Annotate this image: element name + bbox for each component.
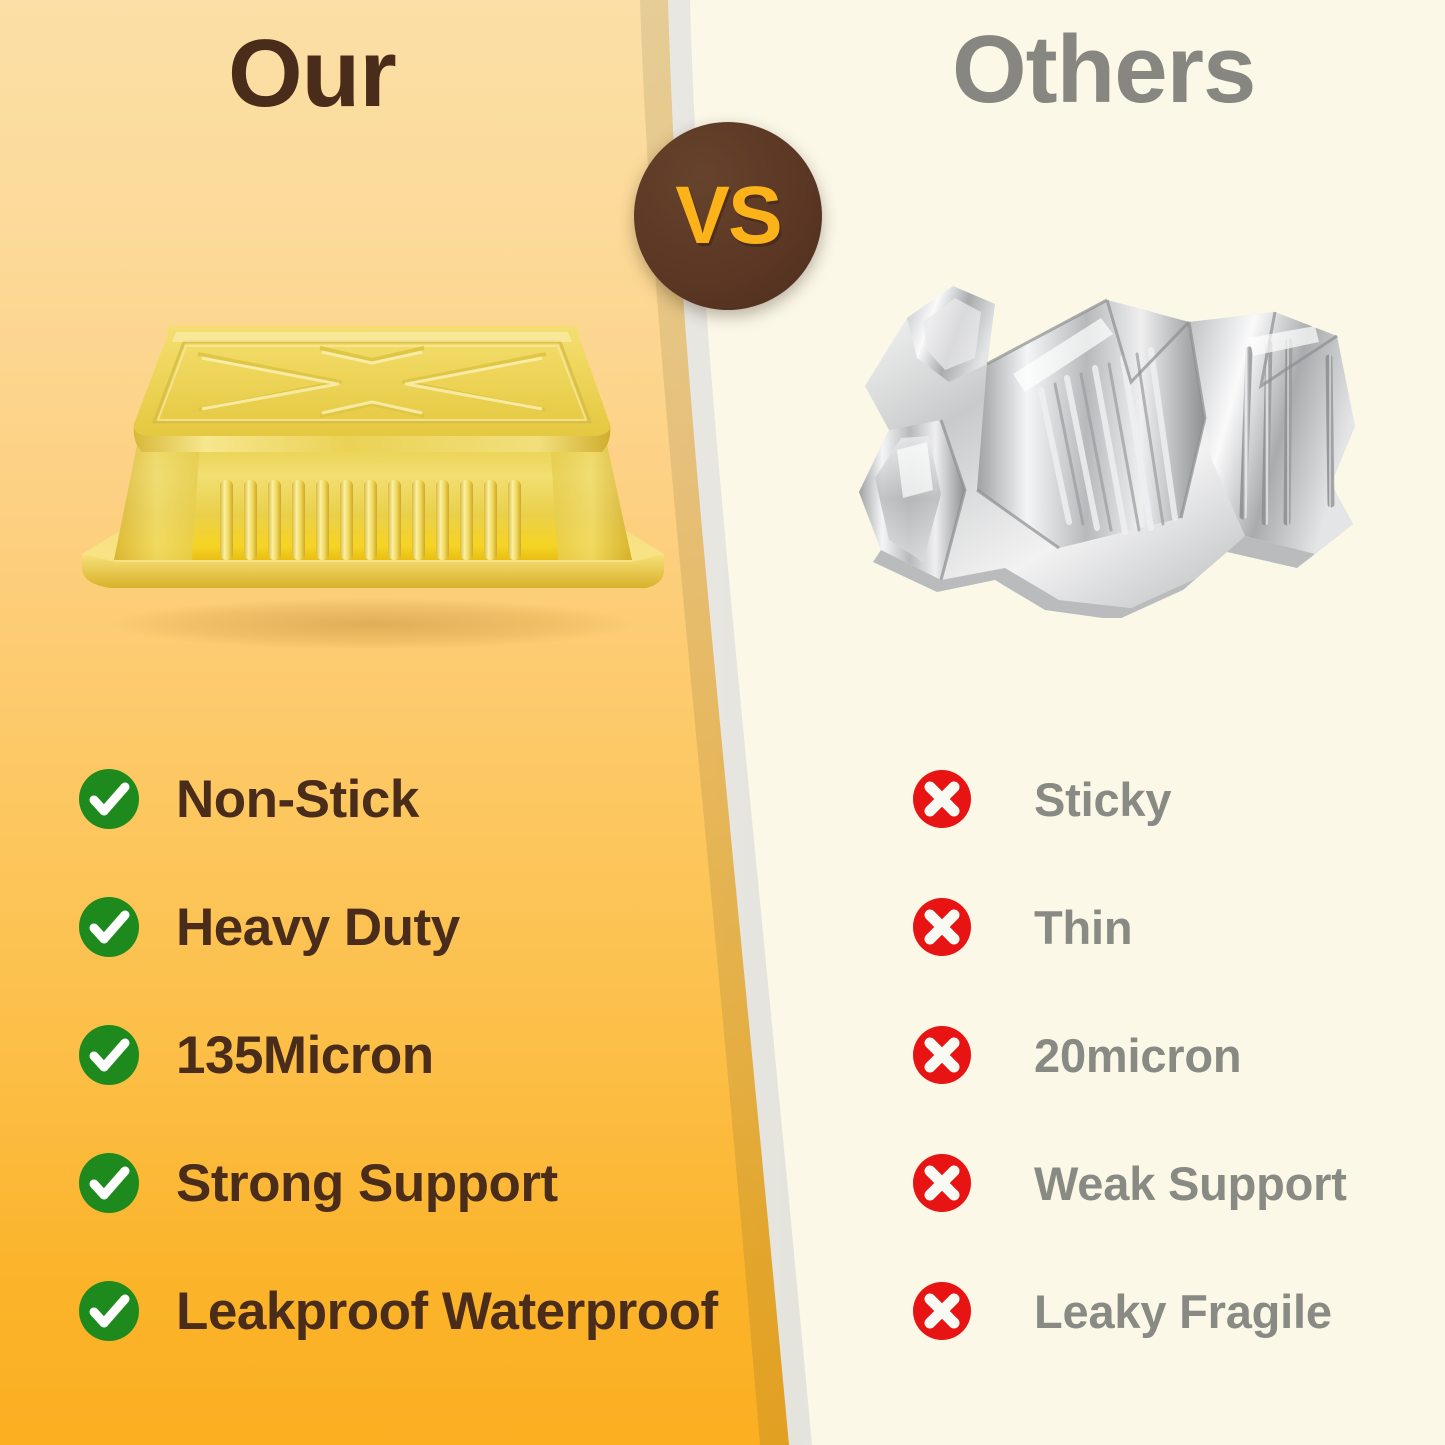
others-feature-list: Sticky Thin 20micron Weak Support — [912, 735, 1382, 1375]
feature-label: 20micron — [1034, 1032, 1241, 1079]
feature-row: Thin — [912, 863, 1382, 991]
feature-row: Strong Support — [78, 1119, 738, 1247]
feature-label: Leakproof Waterproof — [176, 1285, 718, 1338]
feature-label: Leaky Fragile — [1034, 1288, 1332, 1335]
feature-row: Non-Stick — [78, 735, 738, 863]
feature-row: Leakproof Waterproof — [78, 1247, 738, 1375]
vs-badge-label: VS — [675, 175, 780, 257]
x-circle-icon — [912, 769, 972, 829]
gold-foil-container-image — [72, 312, 672, 648]
our-column-title: Our — [228, 26, 396, 122]
x-circle-icon — [912, 1281, 972, 1341]
x-circle-icon — [912, 1153, 972, 1213]
feature-row: Sticky — [912, 735, 1382, 863]
x-circle-icon — [912, 897, 972, 957]
our-feature-list: Non-Stick Heavy Duty 135Micron Strong Su… — [78, 735, 738, 1375]
comparison-infographic: Our Others VS — [0, 0, 1445, 1445]
feature-label: Sticky — [1034, 776, 1171, 823]
check-circle-icon — [78, 1280, 140, 1342]
crumpled-silver-foil-image — [845, 278, 1365, 618]
check-circle-icon — [78, 768, 140, 830]
feature-label: Thin — [1034, 904, 1132, 951]
x-circle-icon — [912, 1025, 972, 1085]
feature-label: Non-Stick — [176, 773, 419, 826]
vs-badge: VS — [634, 122, 822, 310]
feature-row: Weak Support — [912, 1119, 1382, 1247]
check-circle-icon — [78, 1024, 140, 1086]
feature-label: Weak Support — [1034, 1160, 1347, 1207]
feature-row: 20micron — [912, 991, 1382, 1119]
feature-row: Leaky Fragile — [912, 1247, 1382, 1375]
feature-row: Heavy Duty — [78, 863, 738, 991]
feature-label: Heavy Duty — [176, 901, 460, 954]
check-circle-icon — [78, 896, 140, 958]
feature-row: 135Micron — [78, 991, 738, 1119]
feature-label: Strong Support — [176, 1157, 558, 1210]
feature-label: 135Micron — [176, 1029, 434, 1082]
others-column-title: Others — [952, 22, 1255, 118]
check-circle-icon — [78, 1152, 140, 1214]
